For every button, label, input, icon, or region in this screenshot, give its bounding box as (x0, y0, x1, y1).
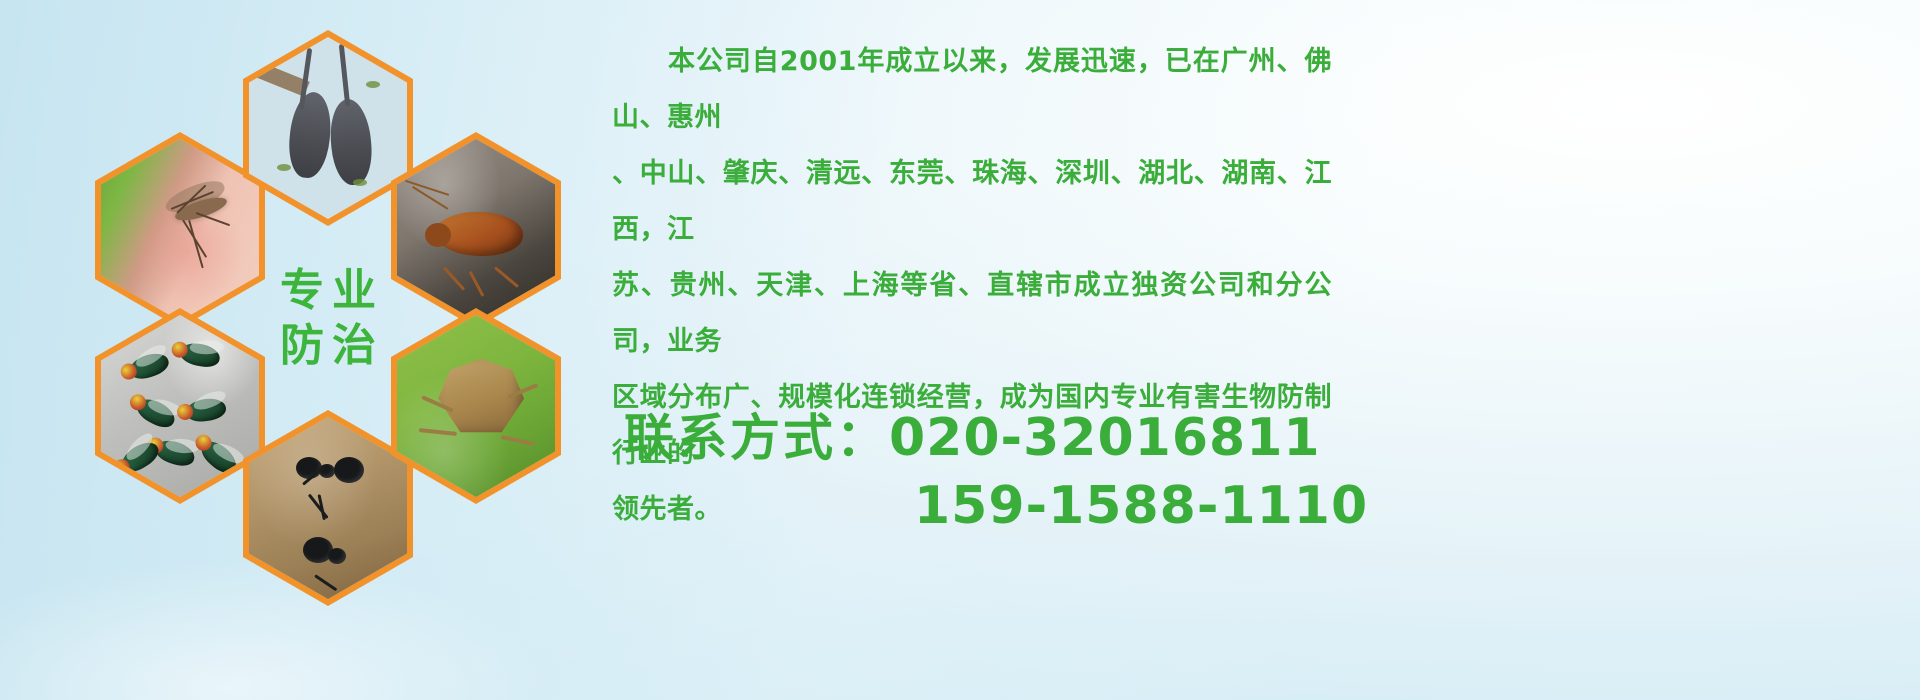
contact-block: 联系方式： 020-32016811 159-1588-1110 (624, 404, 1384, 540)
hex-photo-rats (249, 37, 407, 219)
hex-photo-mosquito (101, 139, 259, 321)
stink-bug-icon (397, 315, 555, 497)
phone-secondary[interactable]: 159-1588-1110 (914, 472, 1368, 540)
description-line-1: 本公司自2001年成立以来，发展迅速，已在广州、佛山、惠州 (612, 34, 1332, 146)
cockroach-icon (397, 139, 555, 321)
hex-cell-slogan: 专业 防治 (243, 220, 413, 416)
hex-cell-rats[interactable] (243, 30, 413, 226)
mosquito-icon (101, 139, 259, 321)
honeycomb-image-cluster: 专业 防治 (95, 10, 595, 590)
hex-photo-stink-bug (397, 315, 555, 497)
hex-cell-stink-bug[interactable] (391, 308, 561, 504)
slogan-container: 专业 防治 (249, 227, 407, 409)
fly-icon (101, 315, 259, 497)
contact-row-primary: 联系方式： 020-32016811 (624, 404, 1384, 472)
ant-icon (249, 417, 407, 599)
hex-cell-mosquito[interactable] (95, 132, 265, 328)
phone-primary[interactable]: 020-32016811 (889, 404, 1321, 472)
description-line-3: 苏、贵州、天津、上海等省、直辖市成立独资公司和分公司，业务 (612, 258, 1332, 370)
hex-photo-ant (249, 417, 407, 599)
promotional-banner: 专业 防治 本公司自2001年成立以来，发展迅速，已在广州、佛山、惠州 、中山、… (0, 0, 1920, 700)
hex-photo-cockroach (397, 139, 555, 321)
hex-photo-flies (101, 315, 259, 497)
slogan-line-2: 防治 (272, 318, 384, 373)
hex-cell-ant[interactable] (243, 410, 413, 606)
hex-cell-flies[interactable] (95, 308, 265, 504)
contact-label: 联系方式： (624, 404, 889, 472)
rat-icon (249, 37, 407, 219)
description-line-2: 、中山、肇庆、清远、东莞、珠海、深圳、湖北、湖南、江西，江 (612, 146, 1332, 258)
contact-row-secondary: 159-1588-1110 (624, 472, 1384, 540)
hex-cell-cockroach[interactable] (391, 132, 561, 328)
slogan-line-1: 专业 (272, 263, 384, 318)
